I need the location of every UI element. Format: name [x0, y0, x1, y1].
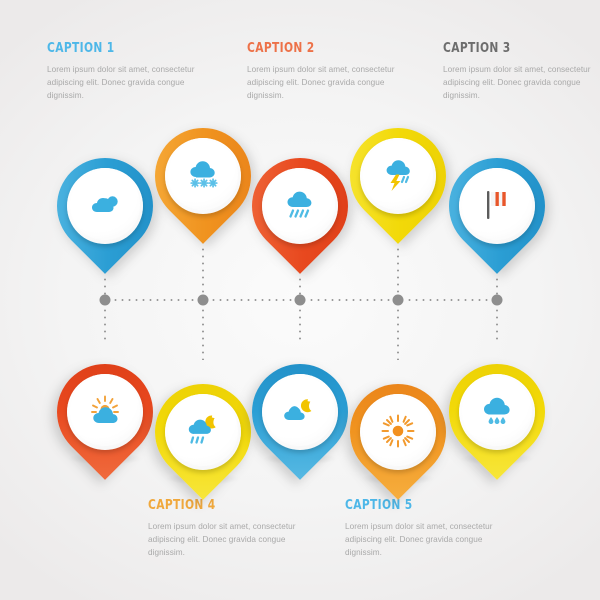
caption-body: Lorem ipsum dolor sit amet, consectetur … — [345, 520, 505, 560]
pin-face — [265, 170, 335, 240]
partly-sunny-icon — [88, 395, 122, 427]
partly-cloudy-night-icon — [282, 398, 318, 424]
pin-face — [363, 396, 433, 466]
pin-top-3[interactable] — [252, 158, 348, 278]
caption-body: Lorem ipsum dolor sit amet, consectetur … — [247, 63, 407, 103]
caption-block-5: CAPTION 5 Lorem ipsum dolor sit amet, co… — [345, 499, 505, 559]
pin-top-4[interactable] — [350, 128, 446, 248]
caption-body: Lorem ipsum dolor sit amet, consectetur … — [47, 63, 207, 103]
pin-bottom-3[interactable] — [252, 340, 348, 460]
snow-cloud-icon — [185, 158, 221, 192]
caption-block-4: CAPTION 4 Lorem ipsum dolor sit amet, co… — [148, 499, 308, 559]
pin-face — [168, 140, 238, 210]
pin-top-5[interactable] — [449, 158, 545, 278]
connector-stem-down-4 — [397, 300, 399, 360]
connector-stem-down-3 — [299, 300, 301, 340]
pin-face — [265, 376, 335, 446]
rain-shower-icon — [479, 395, 515, 427]
connector-stem-down-2 — [202, 300, 204, 360]
connector-stem-down-1 — [104, 300, 106, 340]
pin-bottom-4[interactable] — [350, 360, 446, 480]
pin-bottom-1[interactable] — [57, 340, 153, 460]
caption-title: CAPTION 5 — [345, 499, 486, 513]
caption-block-1: CAPTION 1 Lorem ipsum dolor sit amet, co… — [47, 42, 207, 102]
timeline-node[interactable] — [393, 295, 404, 306]
pin-face — [462, 376, 532, 446]
caption-body: Lorem ipsum dolor sit amet, consectetur … — [443, 63, 600, 103]
caption-title: CAPTION 4 — [148, 499, 289, 513]
night-rain-icon — [185, 415, 221, 447]
pin-bottom-2[interactable] — [155, 360, 251, 480]
pin-face — [70, 376, 140, 446]
pin-face — [462, 170, 532, 240]
rain-cloud-icon — [283, 188, 317, 222]
windsock-icon — [482, 189, 512, 221]
sun-icon — [381, 414, 415, 448]
timeline-node[interactable] — [100, 295, 111, 306]
pin-face — [363, 140, 433, 210]
caption-title: CAPTION 1 — [47, 42, 188, 56]
timeline-node[interactable] — [492, 295, 503, 306]
caption-body: Lorem ipsum dolor sit amet, consectetur … — [148, 520, 308, 560]
pin-face — [168, 396, 238, 466]
pin-bottom-5[interactable] — [449, 340, 545, 460]
caption-title: CAPTION 2 — [247, 42, 388, 56]
cloud-icon — [88, 190, 122, 220]
timeline-node[interactable] — [295, 295, 306, 306]
infographic-canvas: CAPTION 1 Lorem ipsum dolor sit amet, co… — [0, 0, 600, 600]
caption-block-3: CAPTION 3 Lorem ipsum dolor sit amet, co… — [443, 42, 600, 102]
thunderstorm-icon — [381, 158, 415, 192]
pin-top-2[interactable] — [155, 128, 251, 248]
connector-stem-down-5 — [496, 300, 498, 340]
caption-block-2: CAPTION 2 Lorem ipsum dolor sit amet, co… — [247, 42, 407, 102]
pin-face — [70, 170, 140, 240]
pin-top-1[interactable] — [57, 158, 153, 278]
caption-title: CAPTION 3 — [443, 42, 584, 56]
timeline-node[interactable] — [198, 295, 209, 306]
